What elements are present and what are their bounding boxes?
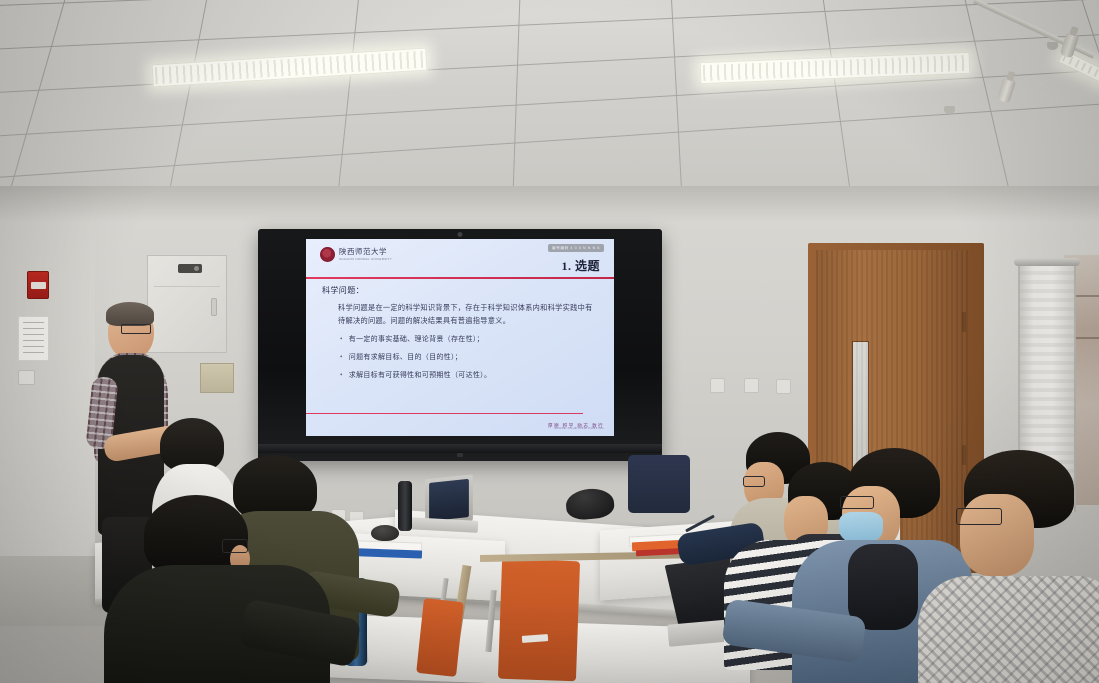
slide-lead-heading: 科学问题： [322,285,600,296]
sprinkler-head-right [1047,42,1058,50]
display-camera-icon [458,232,463,237]
right4-face [960,494,1034,576]
spotlight-left [997,77,1017,104]
list-item: • 问题有求解目标、目的（目的性）； [340,352,600,363]
light-switch-left[interactable] [18,370,35,385]
slide-bottom-rule [306,413,583,414]
wall-socket-4[interactable] [744,378,759,393]
slide-paragraph: 科学问题是在一定的科学知识背景下，存在于科学知识体系内和科学实践中有待解决的问题… [338,302,600,327]
university-logo: 陕西师范大学 SHAANXI NORMAL UNIVERSITY [320,247,392,262]
wall-socket-3[interactable] [710,378,725,393]
list-item: • 有一定的事实基础、理论背景（存在性）； [340,334,600,345]
right4-glasses-icon [956,508,1002,525]
slide-body: 科学问题： 科学问题是在一定的科学知识背景下，存在于科学知识体系内和科学实践中有… [322,285,600,388]
slide-top-rule [306,277,614,279]
chair-orange-2[interactable] [416,598,464,677]
slide-badge: 编号编码 4 0 0 N N N 6 [548,244,604,252]
chair-orange-1[interactable] [498,559,580,682]
wall-ceiling-shadow [0,186,1099,222]
bullet-text: 问题有求解目标、目的（目的性）； [349,352,462,363]
presenter-glasses-icon [121,324,151,334]
display-bottom-bar [258,444,662,453]
fire-alarm-icon [27,271,49,299]
classroom-scene: 陕西师范大学 SHAANXI NORMAL UNIVERSITY 编号编码 4 … [0,0,1099,683]
left-wall-panel [0,186,95,586]
cabinet-seam [154,286,220,287]
wall-socket-5[interactable] [776,379,791,394]
sprinkler-head-left [944,106,955,114]
ceiling [0,0,1099,196]
right3-glasses-icon [840,496,874,509]
bullet-marker-icon: • [340,352,343,363]
bullet-marker-icon: • [340,334,343,345]
university-motto-pinyin: HOUDE JIXUE LIZHI DUNXING [548,428,604,431]
bullet-marker-icon: • [340,370,343,381]
person-student-front-left-1 [118,495,348,683]
computer-mouse-1[interactable] [371,525,399,541]
display-power-led-icon [457,453,463,457]
university-subtitle: SHAANXI NORMAL UNIVERSITY [339,257,392,261]
slide-footer: 厚德 积学 励志 敦行 HOUDE JIXUE LIZHI DUNXING [548,423,604,431]
wall-display[interactable]: 陕西师范大学 SHAANXI NORMAL UNIVERSITY 编号编码 4 … [258,229,662,461]
slide-bullet-list: • 有一定的事实基础、理论背景（存在性）； • 问题有求解目标、目的（目的性）；… [340,334,600,381]
right1-glasses-icon [743,476,765,487]
banner-top-rail [1014,258,1080,266]
slide-title: 1. 选题 [561,257,600,274]
student1-glasses-icon [222,539,248,553]
bullet-text: 有一定的事实基础、理论背景（存在性）； [349,334,484,345]
bullet-text: 求解目标有可获得性和可预期性（可达性）。 [349,370,492,381]
wall-notice-paper [18,316,49,361]
thermos-black[interactable] [398,481,412,531]
list-item: • 求解目标有可获得性和可预期性（可达性）。 [340,370,600,381]
person-student-right-4 [960,450,1099,683]
cabinet-latch[interactable] [211,298,217,316]
cabinet-vent-icon [178,264,202,273]
ceiling-light-panel-left [152,48,428,88]
university-name: 陕西师范大学 [339,248,392,257]
chair-back-right[interactable] [628,455,690,513]
presentation-slide: 陕西师范大学 SHAANXI NORMAL UNIVERSITY 编号编码 4 … [306,239,614,436]
right4-patterned-sweater [918,576,1099,683]
university-seal-icon [320,247,335,262]
laptop-screen-back [429,479,469,521]
door-hinge-top [962,312,966,332]
presenter-hair-icon [106,302,154,326]
